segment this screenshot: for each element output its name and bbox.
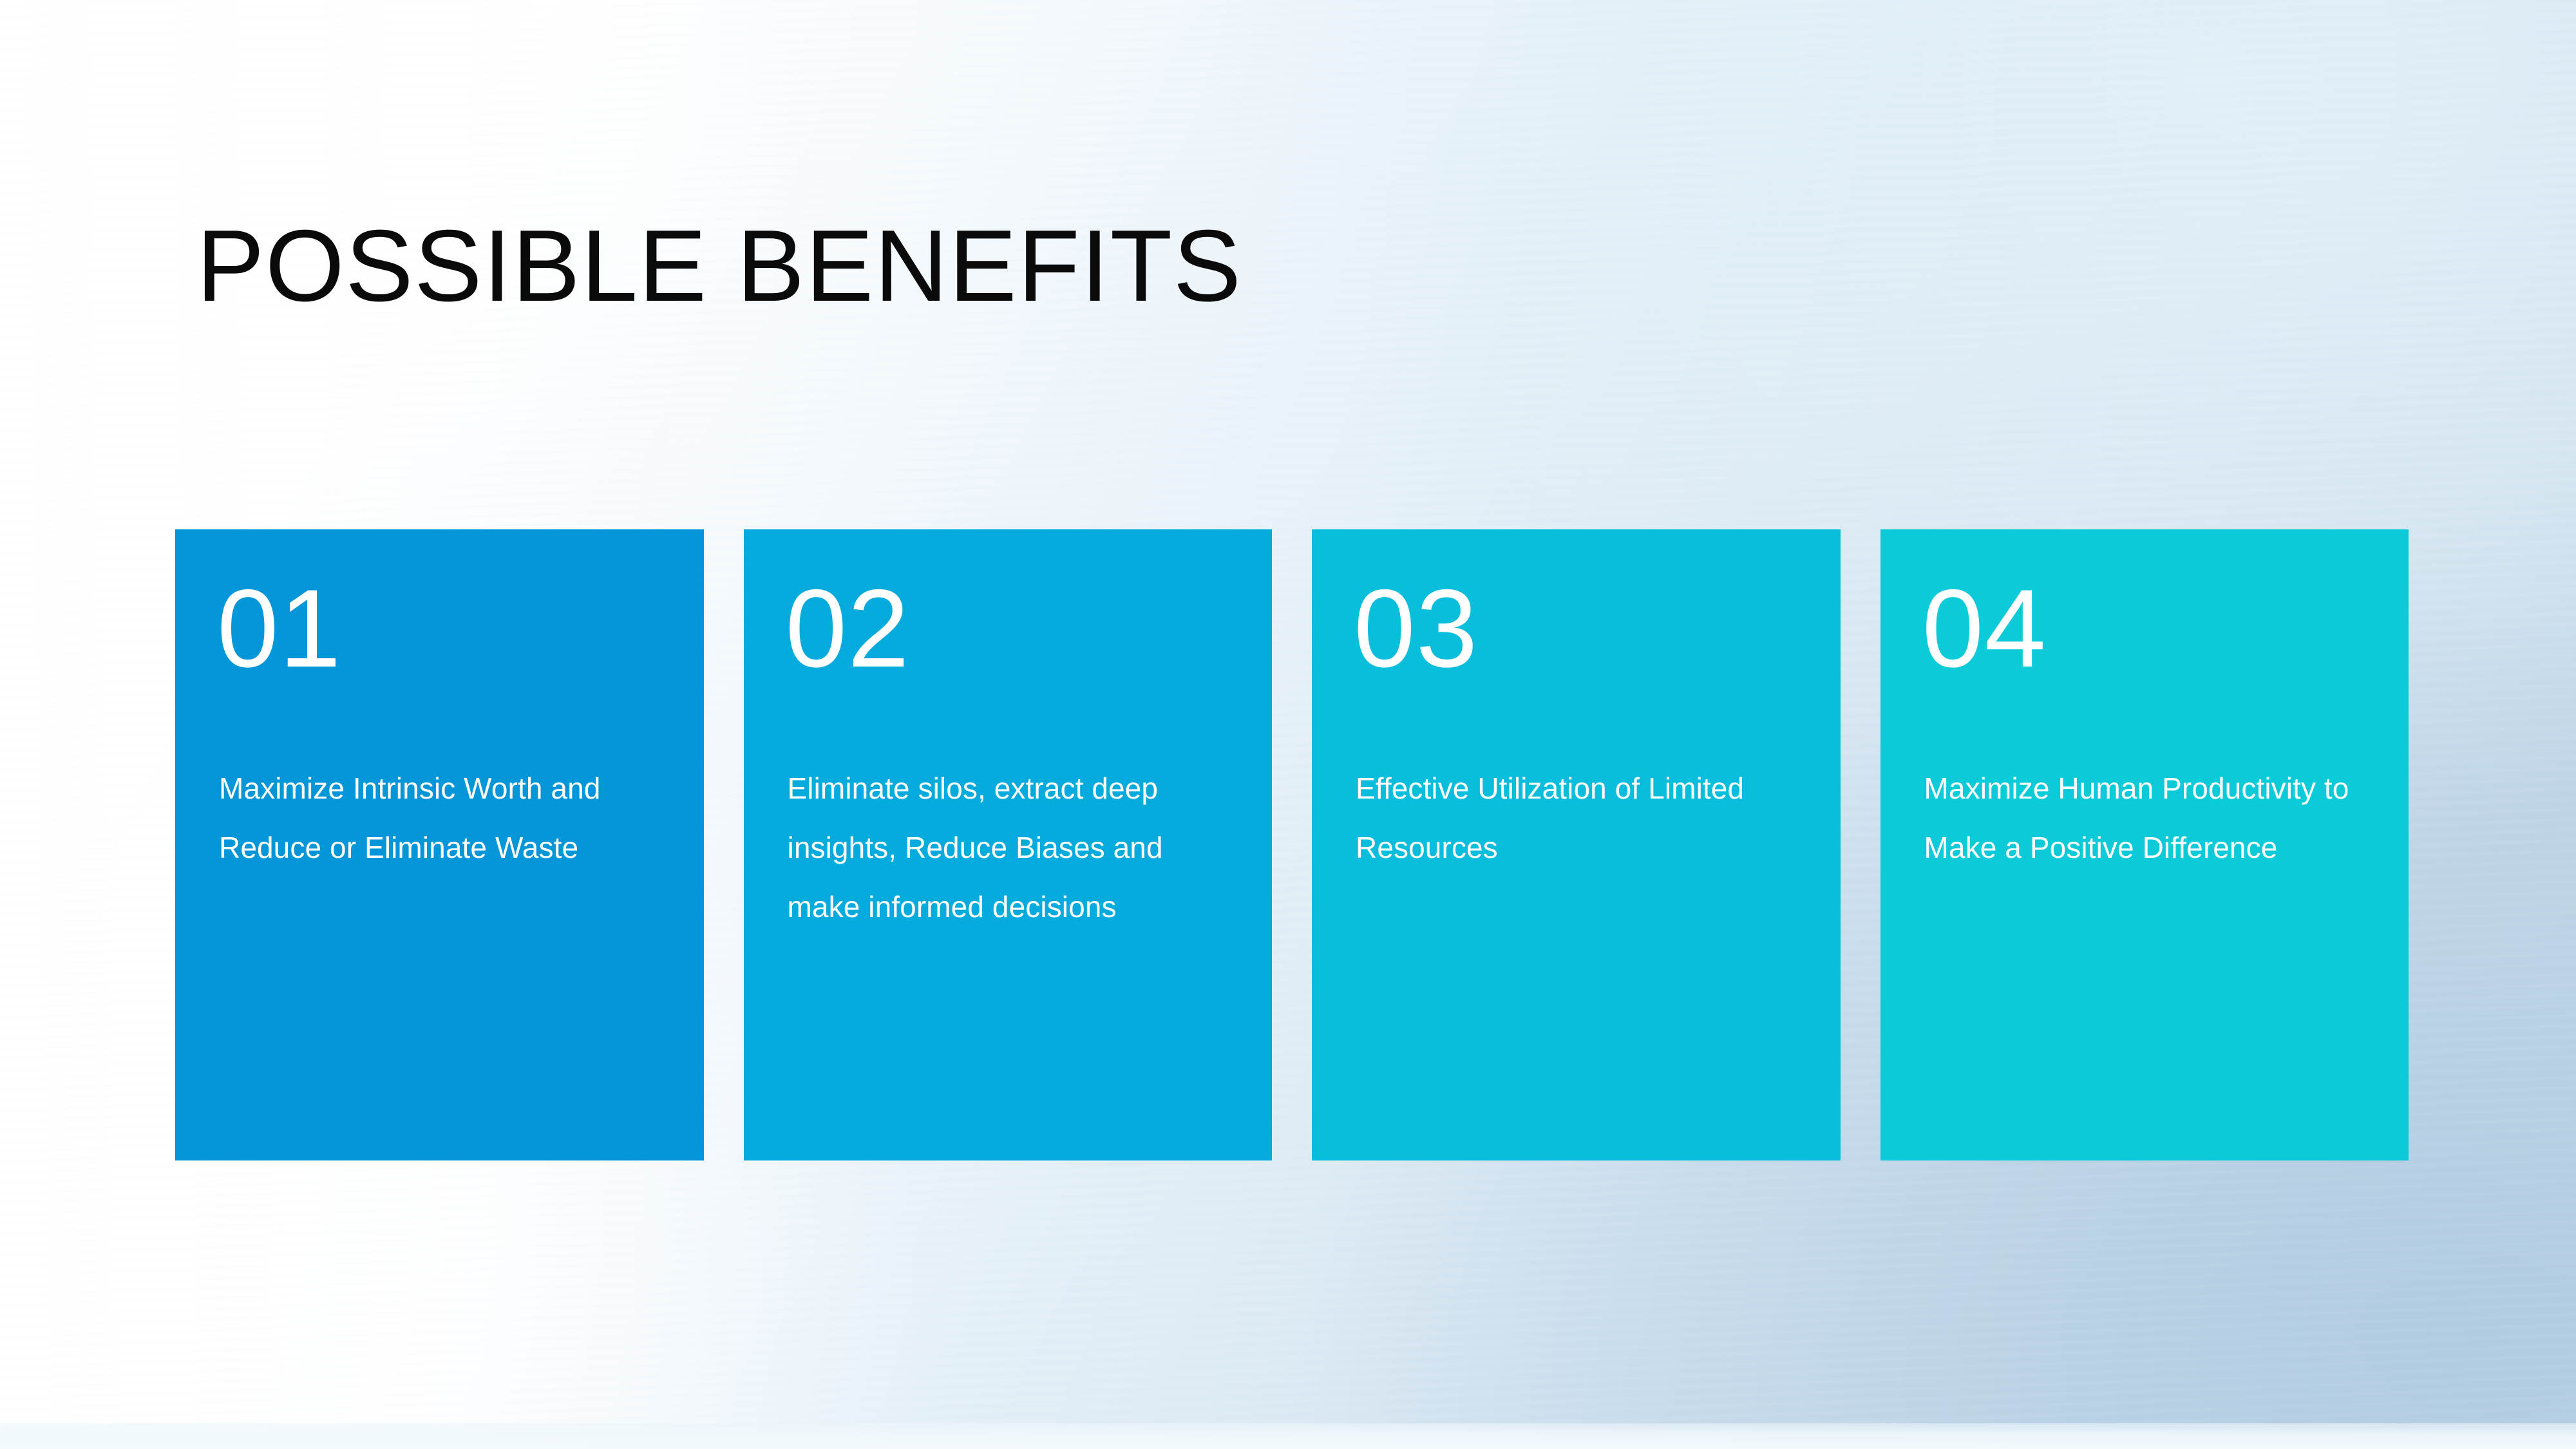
benefit-card-text: Maximize Intrinsic Worth and Reduce or E… xyxy=(219,759,661,877)
benefit-card-row: 01 Maximize Intrinsic Worth and Reduce o… xyxy=(175,529,2409,1160)
benefit-card-01[interactable]: 01 Maximize Intrinsic Worth and Reduce o… xyxy=(175,529,704,1160)
benefit-card-text: Maximize Human Productivity to Make a Po… xyxy=(1924,759,2367,877)
benefit-card-04[interactable]: 04 Maximize Human Productivity to Make a… xyxy=(1880,529,2409,1160)
slide-canvas: POSSIBLE BENEFITS 01 Maximize Intrinsic … xyxy=(0,0,2576,1449)
benefit-card-number: 04 xyxy=(1922,573,2367,684)
benefit-card-number: 03 xyxy=(1354,573,1798,684)
page-title: POSSIBLE BENEFITS xyxy=(196,211,1242,321)
benefit-card-text: Effective Utilization of Limited Resourc… xyxy=(1356,759,1798,877)
background-bottom-band xyxy=(0,1423,2576,1449)
benefit-card-number: 01 xyxy=(217,573,661,684)
benefit-card-02[interactable]: 02 Eliminate silos, extract deep insight… xyxy=(744,529,1273,1160)
benefit-card-number: 02 xyxy=(786,573,1230,684)
benefit-card-text: Eliminate silos, extract deep insights, … xyxy=(788,759,1230,936)
benefit-card-03[interactable]: 03 Effective Utilization of Limited Reso… xyxy=(1312,529,1841,1160)
